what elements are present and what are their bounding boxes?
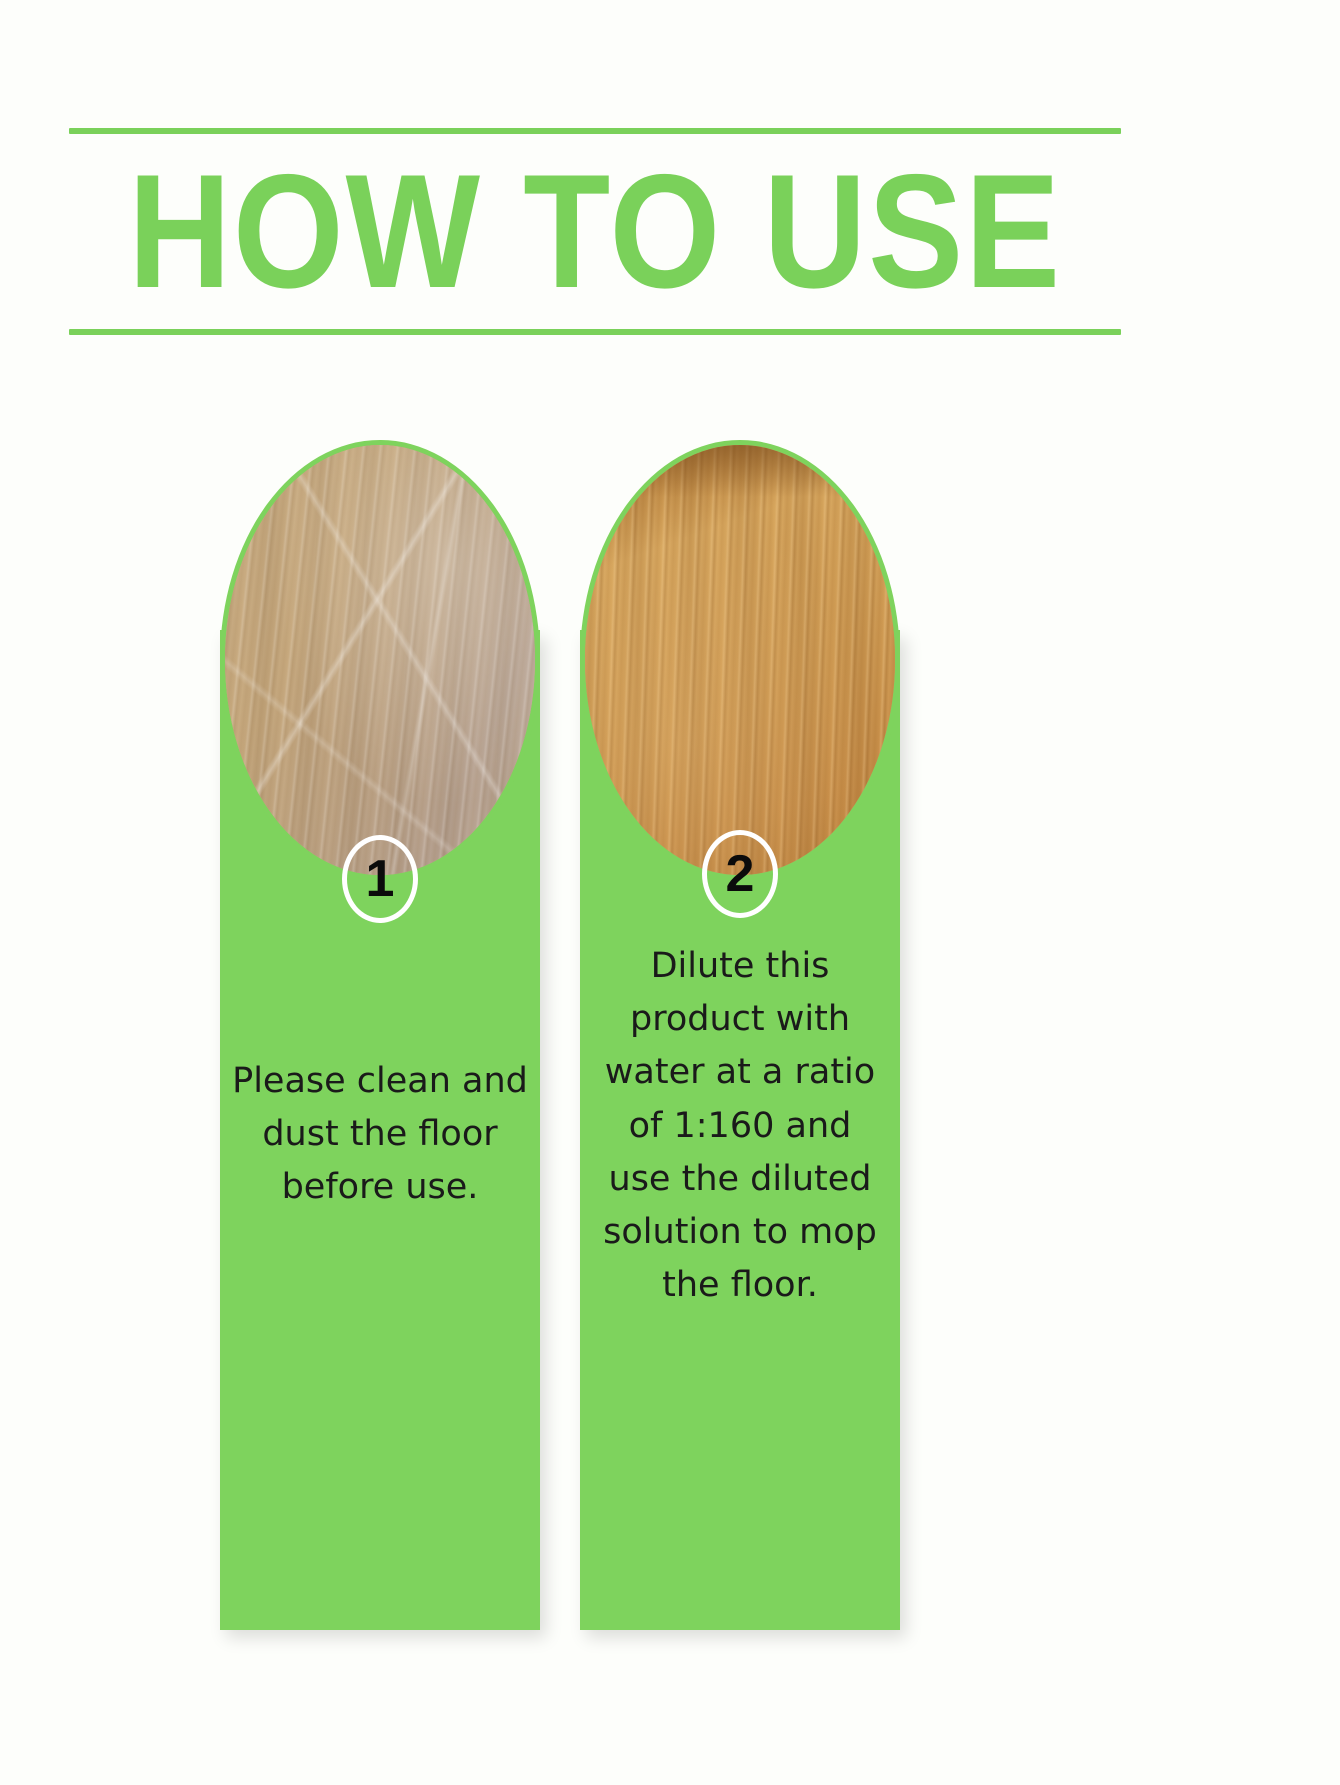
step-1-caption: Please clean and dust the floor before u… xyxy=(226,1055,534,1215)
step-1-number: 1 xyxy=(366,853,395,905)
worn-wood-floor-image xyxy=(225,445,535,875)
step-1-photo xyxy=(220,440,540,880)
clean-wood-floor-image xyxy=(585,445,895,875)
page-title: HOW TO USE xyxy=(132,134,1058,329)
title-rule-bottom xyxy=(69,329,1121,335)
step-2-caption: Dilute this product with water at a rati… xyxy=(586,940,894,1312)
step-1-number-badge: 1 xyxy=(342,835,418,923)
step-2-photo xyxy=(580,440,900,880)
step-2-number: 2 xyxy=(726,848,755,900)
title-block: HOW TO USE xyxy=(69,128,1121,340)
step-2-number-badge: 2 xyxy=(702,830,778,918)
